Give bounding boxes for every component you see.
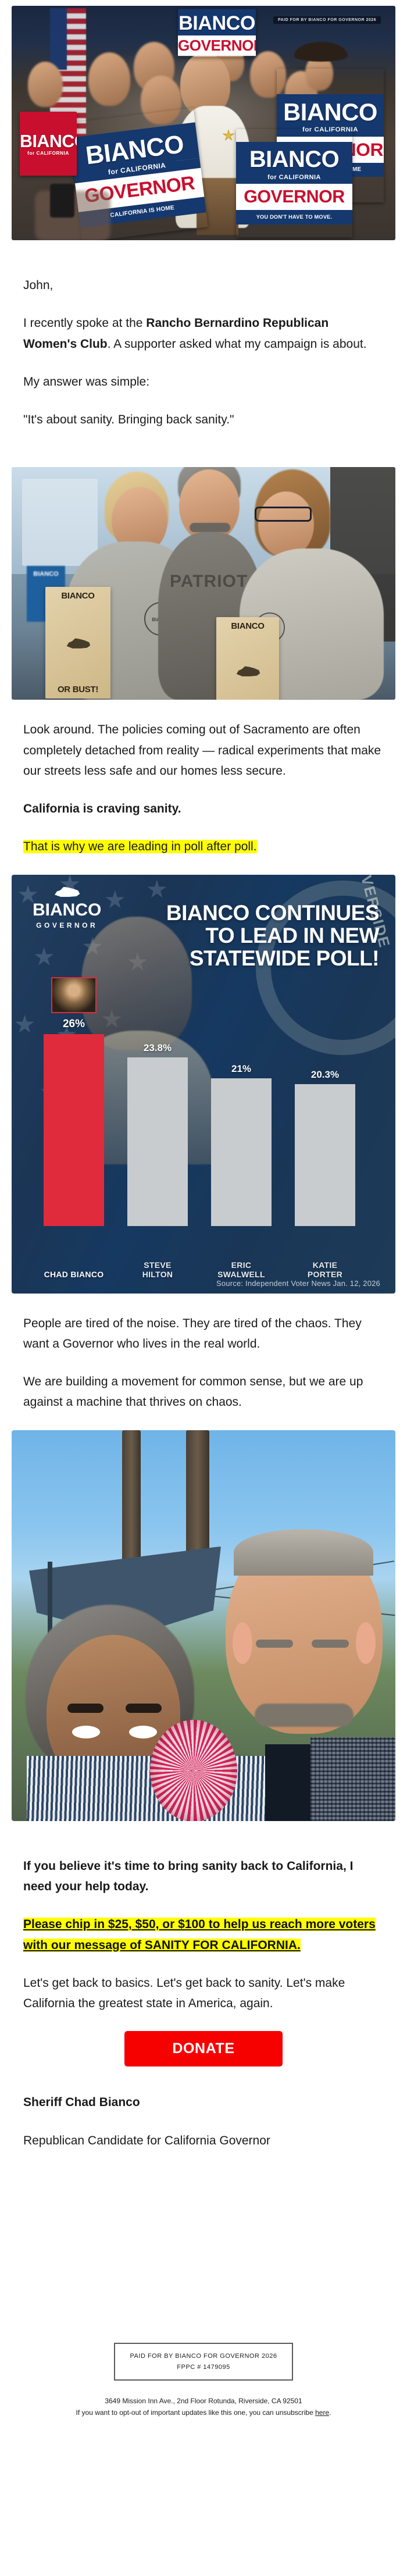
bar-column-0: 26% CHAD BIANCO [44,1018,104,1226]
paragraph-9-bold: If you believe it's time to bring sanity… [23,1856,384,1897]
fppc-disclaimer-box: PAID FOR BY BIANCO FOR GOVERNOR 2026 FPP… [114,2343,294,2381]
disclaimer-line-1: PAID FOR BY BIANCO FOR GOVERNOR 2026 [130,2351,277,2362]
email-copy-after-poll: People are tired of the noise. They are … [23,1313,384,1413]
logo-office: GOVERNOR [33,921,101,929]
greeting: John, [23,275,384,295]
bar-steve-hilton [127,1057,188,1226]
poll-results-graphic: RIVERSIDE BIANCO GOVERNOR BIANCO CONTINU… [12,875,395,1294]
yard-sign-office: GOVERNOR [236,184,352,210]
bar-column-1: 23.8% STEVE HILTON [127,1042,188,1226]
poster-top-text: BIANCO [48,591,108,601]
yard-sign-office: GOVERNOR [178,35,256,56]
highlighted-poll-line: That is why we are leading in poll after… [23,840,257,853]
bar-value-label: 20.3% [311,1069,339,1081]
hero-rally-photo: PAID FOR BY BIANCO FOR GOVERNOR 2026 BIA… [12,6,395,240]
paragraph-4: Look around. The policies coming out of … [23,719,384,781]
bar-category-label: CHAD BIANCO [44,1270,104,1280]
optout-prefix: If you want to opt-out of important upda… [76,2408,316,2417]
paragraph-2: My answer was simple: [23,372,384,392]
poll-headline: BIANCO CONTINUES TO LEAD IN NEW STATEWID… [135,902,379,970]
bar-column-2: 21% ERIC SWALWELL [211,1063,272,1226]
bar-value-label: 23.8% [144,1042,172,1054]
paragraph-6-highlight: That is why we are leading in poll after… [23,836,384,857]
rosette-brooch [150,1720,237,1821]
donate-button[interactable]: DONATE [124,2031,282,2066]
bar-value-label: 21% [231,1063,251,1075]
donate-button-wrap: DONATE [0,2031,407,2066]
unsubscribe-link[interactable]: here [315,2408,329,2417]
paragraph-3-quote: "It's about sanity. Bringing back sanity… [23,409,384,430]
email-signature: Sheriff Chad Bianco Republican Candidate… [23,2092,384,2151]
yard-sign-tagline: YOU DON'T HAVE TO MOVE. [236,210,352,225]
bar-value-label: 26% [63,1018,85,1031]
bar-eric-swalwell [211,1078,272,1226]
bar-column-3: 20.3% KATIE PORTER [295,1069,355,1226]
bar-category-label: KATIE PORTER [295,1261,355,1279]
bar-katie-porter [295,1084,355,1226]
yard-sign-for: for CALIFORNIA [236,174,352,184]
yard-sign-name: BIANCO [277,94,384,127]
email-footer: PAID FOR BY BIANCO FOR GOVERNOR 2026 FPP… [0,2343,407,2442]
bianco-or-bust-poster: BIANCO OR BUST! [45,587,110,699]
yard-sign-name: BIANCO [178,9,256,35]
bianco-or-bust-poster: BIANCO OR BUST! [216,617,279,700]
poster-bottom-text: OR BUST! [48,685,108,694]
yard-sign-name: BIANCO [20,130,77,152]
bar-chad-bianco [44,1034,104,1226]
paragraph-8: We are building a movement for common se… [23,1371,384,1413]
p1-prefix: I recently spoke at the [23,316,146,330]
paragraph-1: I recently spoke at the Rancho Bernardin… [23,313,384,354]
yard-sign-name: BIANCO [236,142,352,174]
selfie-photo [12,1430,395,1821]
email-copy-cta: If you believe it's time to bring sanity… [23,1856,384,2014]
signature-role: Republican Candidate for California Gove… [23,2130,384,2151]
spacer [0,1821,407,1856]
bear-icon [234,662,261,679]
paragraph-5-bold: California is craving sanity. [23,799,384,819]
spacer [0,447,407,467]
spacer [0,240,407,275]
paragraph-10-donate-link: Please chip in $25, $50, or $100 to help… [23,1914,384,1955]
spacer [0,700,407,719]
footer-address-block: 3649 Mission Inn Ave., 2nd Floor Rotunda… [0,2396,407,2419]
email-body: PAID FOR BY BIANCO FOR GOVERNOR 2026 BIA… [0,6,407,2442]
mailing-address: 3649 Mission Inn Ave., 2nd Floor Rotunda… [0,2396,407,2407]
optout-suffix: . [329,2408,331,2417]
email-copy-top: John, I recently spoke at the Rancho Ber… [23,275,384,430]
email-copy-middle: Look around. The policies coming out of … [23,719,384,857]
rally-paid-for-banner: PAID FOR BY BIANCO FOR GOVERNOR 2026 [273,16,381,24]
poll-source-credit: Source: Independent Voter News Jan. 12, … [216,1279,380,1288]
poll-campaign-logo: BIANCO GOVERNOR [33,884,101,929]
chip-in-link[interactable]: Please chip in $25, $50, or $100 to help… [23,1918,376,1951]
signature-name: Sheriff Chad Bianco [23,2092,384,2112]
supporters-photo: BIANCO BIANCO BIANCO OR BUST! PATRIOT [12,467,395,700]
paragraph-11: Let's get back to basics. Let's get back… [23,1973,384,2014]
poster-top-text: BIANCO [219,621,277,631]
p1-suffix: . A supporter asked what my campaign is … [108,337,367,351]
bar-category-label: ERIC SWALWELL [211,1261,272,1279]
yard-sign-for: for CALIFORNIA [20,151,77,158]
bear-icon [53,884,81,899]
disclaimer-line-2: FPPC # 1479095 [130,2362,277,2373]
poll-bar-chart: 26% CHAD BIANCO 23.8% STEVE HILTON 21% E… [44,982,378,1226]
optout-line: If you want to opt-out of important upda… [0,2407,407,2419]
candidate-headshot [51,977,97,1013]
bar-category-label: STEVE HILTON [127,1261,188,1279]
patriot-shirt-text: PATRIOT [170,572,248,592]
bear-icon [65,635,91,651]
logo-name: BIANCO [33,902,101,919]
spacer [0,1294,407,1313]
paragraph-7: People are tired of the noise. They are … [23,1313,384,1355]
